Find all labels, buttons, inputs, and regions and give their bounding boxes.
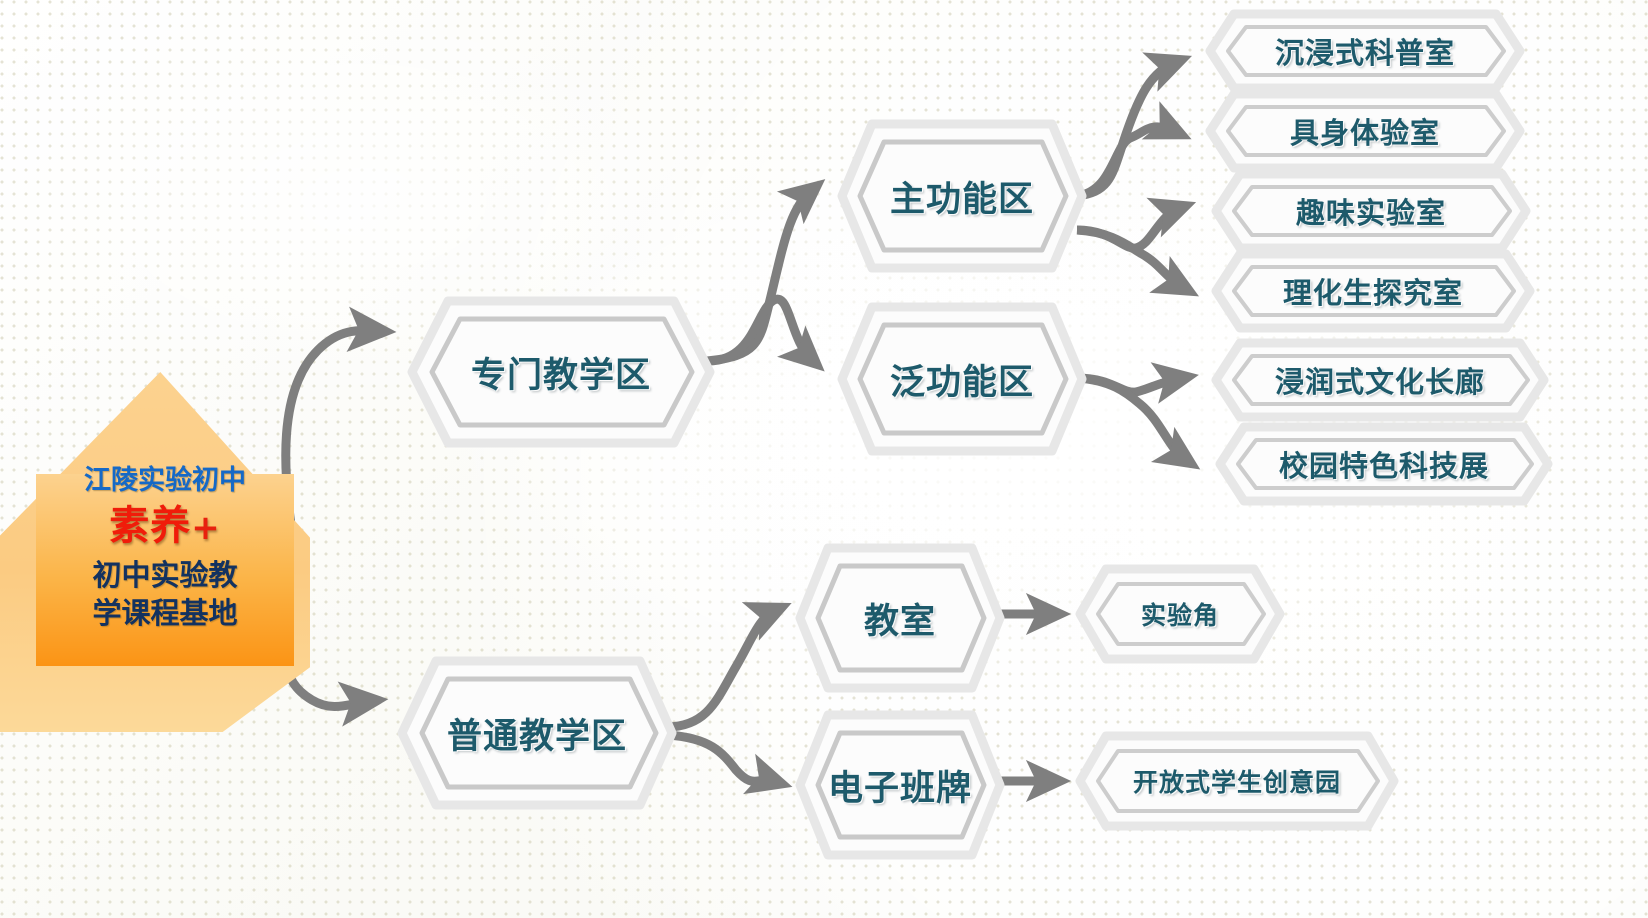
edge-main-to-inquiry xyxy=(1077,230,1184,288)
root-school-name: 江陵实验初中 xyxy=(36,464,294,498)
node-main-function-zone[interactable]: 主功能区 xyxy=(838,120,1086,272)
root-text-block: 江陵实验初中 素养+ 初中实验教 学课程基地 xyxy=(36,464,294,632)
node-embodied-experience-room[interactable]: 具身体验室 xyxy=(1206,90,1524,172)
root-keyword-plus: + xyxy=(191,508,221,548)
node-campus-tech-exhibition[interactable]: 校园特色科技展 xyxy=(1216,423,1552,505)
node-e-class-board[interactable]: 电子班牌 xyxy=(796,711,1004,859)
diagram-canvas: 江陵实验初中 素养+ 初中实验教 学课程基地 专门教学区 普通教学区 xyxy=(0,0,1648,918)
hexagon-shape xyxy=(398,657,676,809)
hexagon-shape xyxy=(1212,250,1534,332)
hexagon-shape xyxy=(408,297,714,447)
edge-general-to-classroom xyxy=(668,610,776,727)
hexagon-shape xyxy=(1076,732,1398,830)
node-immersive-science-room[interactable]: 沉浸式科普室 xyxy=(1206,10,1524,92)
root-node[interactable]: 江陵实验初中 素养+ 初中实验教 学课程基地 xyxy=(0,372,310,732)
node-fun-lab[interactable]: 趣味实验室 xyxy=(1212,170,1530,252)
root-keyword: 素养+ xyxy=(36,498,294,556)
hexagon-shape xyxy=(1212,339,1548,421)
hexagon-shape xyxy=(1206,10,1524,92)
hexagon-shape xyxy=(1206,90,1524,172)
node-specialized-area[interactable]: 专门教学区 xyxy=(408,297,714,447)
hexagon-shape xyxy=(838,303,1086,455)
hexagon-shape xyxy=(838,120,1086,272)
node-general-area[interactable]: 普通教学区 xyxy=(398,657,676,809)
root-keyword-text: 素养 xyxy=(109,503,191,549)
hexagon-shape xyxy=(796,544,1004,692)
node-phys-chem-bio-inquiry-room[interactable]: 理化生探究室 xyxy=(1212,250,1534,332)
hexagon-shape xyxy=(1216,423,1552,505)
node-classroom[interactable]: 教室 xyxy=(796,544,1004,692)
node-experiment-corner[interactable]: 实验角 xyxy=(1076,565,1284,663)
edge-general-to-board xyxy=(668,735,776,782)
hexagon-shape xyxy=(1212,170,1530,252)
edge-main-to-embodied xyxy=(1077,127,1176,196)
root-subtitle-line-1: 初中实验教 xyxy=(36,556,294,594)
root-subtitle-line-2: 学课程基地 xyxy=(36,594,294,632)
node-open-student-creative-garden[interactable]: 开放式学生创意园 xyxy=(1076,732,1398,830)
node-cultural-corridor[interactable]: 浸润式文化长廊 xyxy=(1212,339,1548,421)
hexagon-shape xyxy=(1076,565,1284,663)
hexagon-shape xyxy=(796,711,1004,859)
node-pan-function-zone[interactable]: 泛功能区 xyxy=(838,303,1086,455)
